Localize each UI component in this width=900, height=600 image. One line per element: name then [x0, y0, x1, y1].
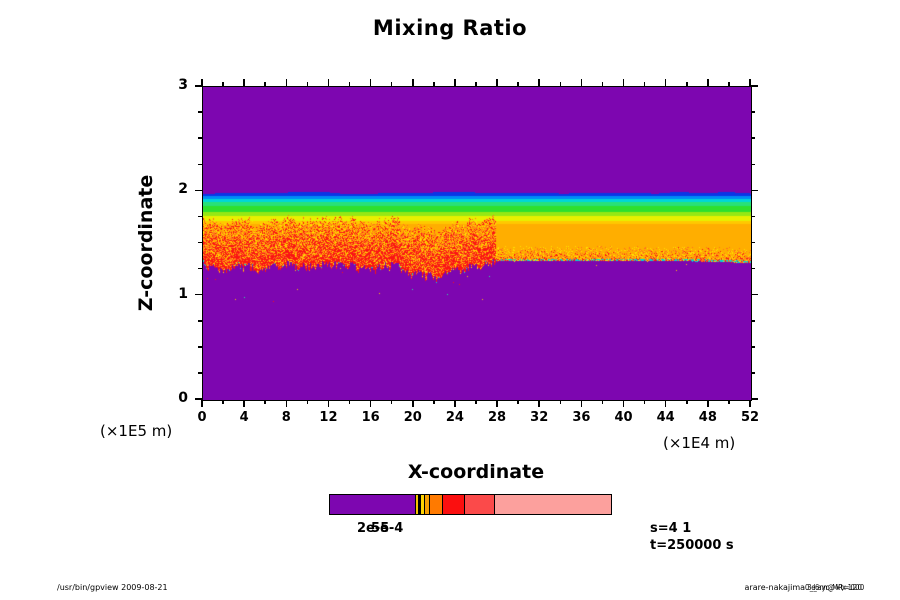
x-axis-tick	[496, 79, 498, 86]
x-axis-tick	[243, 79, 245, 86]
plot-area	[202, 86, 752, 401]
x-axis-tick-label: 48	[688, 410, 728, 425]
y-axis-title: Z-coordinate	[135, 83, 157, 403]
y-axis-minor-tick	[751, 320, 755, 322]
x-axis-tick	[454, 79, 456, 86]
y-axis-tick	[195, 190, 202, 192]
colorbar-segment	[443, 495, 464, 514]
y-axis-minor-tick	[198, 137, 202, 139]
x-axis-tick	[538, 79, 540, 86]
x-axis-minor-tick	[728, 82, 730, 86]
x-axis-tick-label: 52	[730, 410, 770, 425]
y-axis-minor-tick	[198, 268, 202, 270]
y-axis-tick	[195, 398, 202, 400]
x-axis-tick	[286, 79, 288, 86]
colorbar-segment	[465, 495, 495, 514]
colorbar-segment	[495, 495, 611, 514]
y-axis-minor-tick	[198, 346, 202, 348]
x-axis-tick-label: 40	[604, 410, 644, 425]
y-axis-minor-tick	[198, 372, 202, 374]
colorbar	[329, 494, 612, 515]
x-axis-minor-tick	[644, 400, 646, 404]
x-axis-minor-tick	[433, 82, 435, 86]
x-axis-minor-tick	[686, 82, 688, 86]
x-axis-tick	[328, 400, 330, 407]
x-axis-tick-label: 44	[646, 410, 686, 425]
y-axis-minor-tick	[198, 216, 202, 218]
footer-user: arare-nakajima	[745, 583, 806, 592]
x-axis-minor-tick	[475, 400, 477, 404]
x-axis-tick	[412, 400, 414, 407]
y-axis-minor-tick	[198, 320, 202, 322]
x-axis-tick	[581, 79, 583, 86]
y-axis-tick-label: 1	[158, 286, 188, 302]
x-axis-tick	[412, 79, 414, 86]
x-axis-title: X-coordinate	[202, 461, 750, 483]
x-axis-tick-label: 20	[393, 410, 433, 425]
y-axis-minor-tick	[198, 242, 202, 244]
x-axis-unit-left: (×1E5 m)	[100, 422, 172, 440]
x-axis-minor-tick	[560, 400, 562, 404]
footer-source: arare-nakajima03_el_6any.nc@MixRt,x=1:02…	[745, 583, 876, 592]
colorbar-segment	[430, 495, 443, 514]
x-axis-tick	[623, 400, 625, 407]
x-axis-tick	[243, 400, 245, 407]
x-axis-minor-tick	[433, 400, 435, 404]
y-axis-tick	[751, 190, 758, 192]
y-axis-minor-tick	[751, 164, 755, 166]
y-axis-tick-label: 0	[158, 390, 188, 406]
x-axis-minor-tick	[264, 400, 266, 404]
y-axis-minor-tick	[751, 268, 755, 270]
x-axis-tick	[496, 400, 498, 407]
x-axis-tick	[201, 400, 203, 407]
x-axis-minor-tick	[686, 400, 688, 404]
y-axis-minor-tick	[751, 372, 755, 374]
x-axis-tick	[370, 400, 372, 407]
x-axis-tick-label: 36	[561, 410, 601, 425]
y-axis-minor-tick	[751, 111, 755, 113]
y-axis-minor-tick	[751, 242, 755, 244]
x-axis-minor-tick	[602, 400, 604, 404]
x-axis-minor-tick	[222, 400, 224, 404]
x-axis-tick	[665, 400, 667, 407]
x-axis-minor-tick	[349, 400, 351, 404]
x-axis-minor-tick	[391, 400, 393, 404]
y-axis-tick	[751, 294, 758, 296]
x-axis-tick	[581, 400, 583, 407]
x-axis-minor-tick	[349, 82, 351, 86]
x-axis-tick	[665, 79, 667, 86]
x-axis-minor-tick	[222, 82, 224, 86]
x-axis-unit-right: (×1E4 m)	[663, 434, 735, 452]
page-title: Mixing Ratio	[0, 16, 900, 40]
x-axis-minor-tick	[602, 82, 604, 86]
annotation-s: s=4 1	[650, 521, 691, 536]
y-axis-tick	[751, 398, 758, 400]
x-axis-tick	[623, 79, 625, 86]
x-axis-tick	[538, 400, 540, 407]
x-axis-tick-label: 12	[308, 410, 348, 425]
y-axis-tick	[751, 85, 758, 87]
y-axis-minor-tick	[751, 137, 755, 139]
colorbar-label-high: 5e-4	[371, 521, 403, 536]
x-axis-tick-label: 8	[266, 410, 306, 425]
x-axis-tick	[328, 79, 330, 86]
y-axis-minor-tick	[751, 216, 755, 218]
x-axis-minor-tick	[644, 82, 646, 86]
x-axis-minor-tick	[560, 82, 562, 86]
x-axis-tick	[454, 400, 456, 407]
annotation-time: t=250000 s	[650, 538, 734, 553]
x-axis-tick-label: 24	[435, 410, 475, 425]
x-axis-tick-label: 16	[351, 410, 391, 425]
x-axis-minor-tick	[307, 400, 309, 404]
footer-generator: /usr/bin/gpview 2009-08-21	[57, 583, 168, 592]
x-axis-tick	[286, 400, 288, 407]
x-axis-tick	[707, 400, 709, 407]
x-axis-tick	[749, 400, 751, 407]
x-axis-minor-tick	[307, 82, 309, 86]
y-axis-minor-tick	[198, 164, 202, 166]
x-axis-tick-label: 32	[519, 410, 559, 425]
footer-variable-path: 03_el_6any.nc@MixRt,x=1:02000	[805, 583, 862, 592]
y-axis-minor-tick	[198, 111, 202, 113]
x-axis-minor-tick	[728, 400, 730, 404]
x-axis-tick	[370, 79, 372, 86]
colorbar-segment	[330, 495, 416, 514]
y-axis-tick	[195, 294, 202, 296]
x-axis-tick	[707, 79, 709, 86]
y-axis-minor-tick	[751, 346, 755, 348]
x-axis-minor-tick	[475, 82, 477, 86]
x-axis-tick-label: 0	[182, 410, 222, 425]
x-axis-minor-tick	[517, 400, 519, 404]
x-axis-tick-label: 28	[477, 410, 517, 425]
x-axis-minor-tick	[517, 82, 519, 86]
y-axis-tick-label: 3	[158, 77, 188, 93]
y-axis-tick	[195, 85, 202, 87]
x-axis-minor-tick	[391, 82, 393, 86]
mixing-ratio-heatmap	[203, 87, 751, 400]
x-axis-minor-tick	[264, 82, 266, 86]
y-axis-tick-label: 2	[158, 181, 188, 197]
x-axis-tick-label: 4	[224, 410, 264, 425]
